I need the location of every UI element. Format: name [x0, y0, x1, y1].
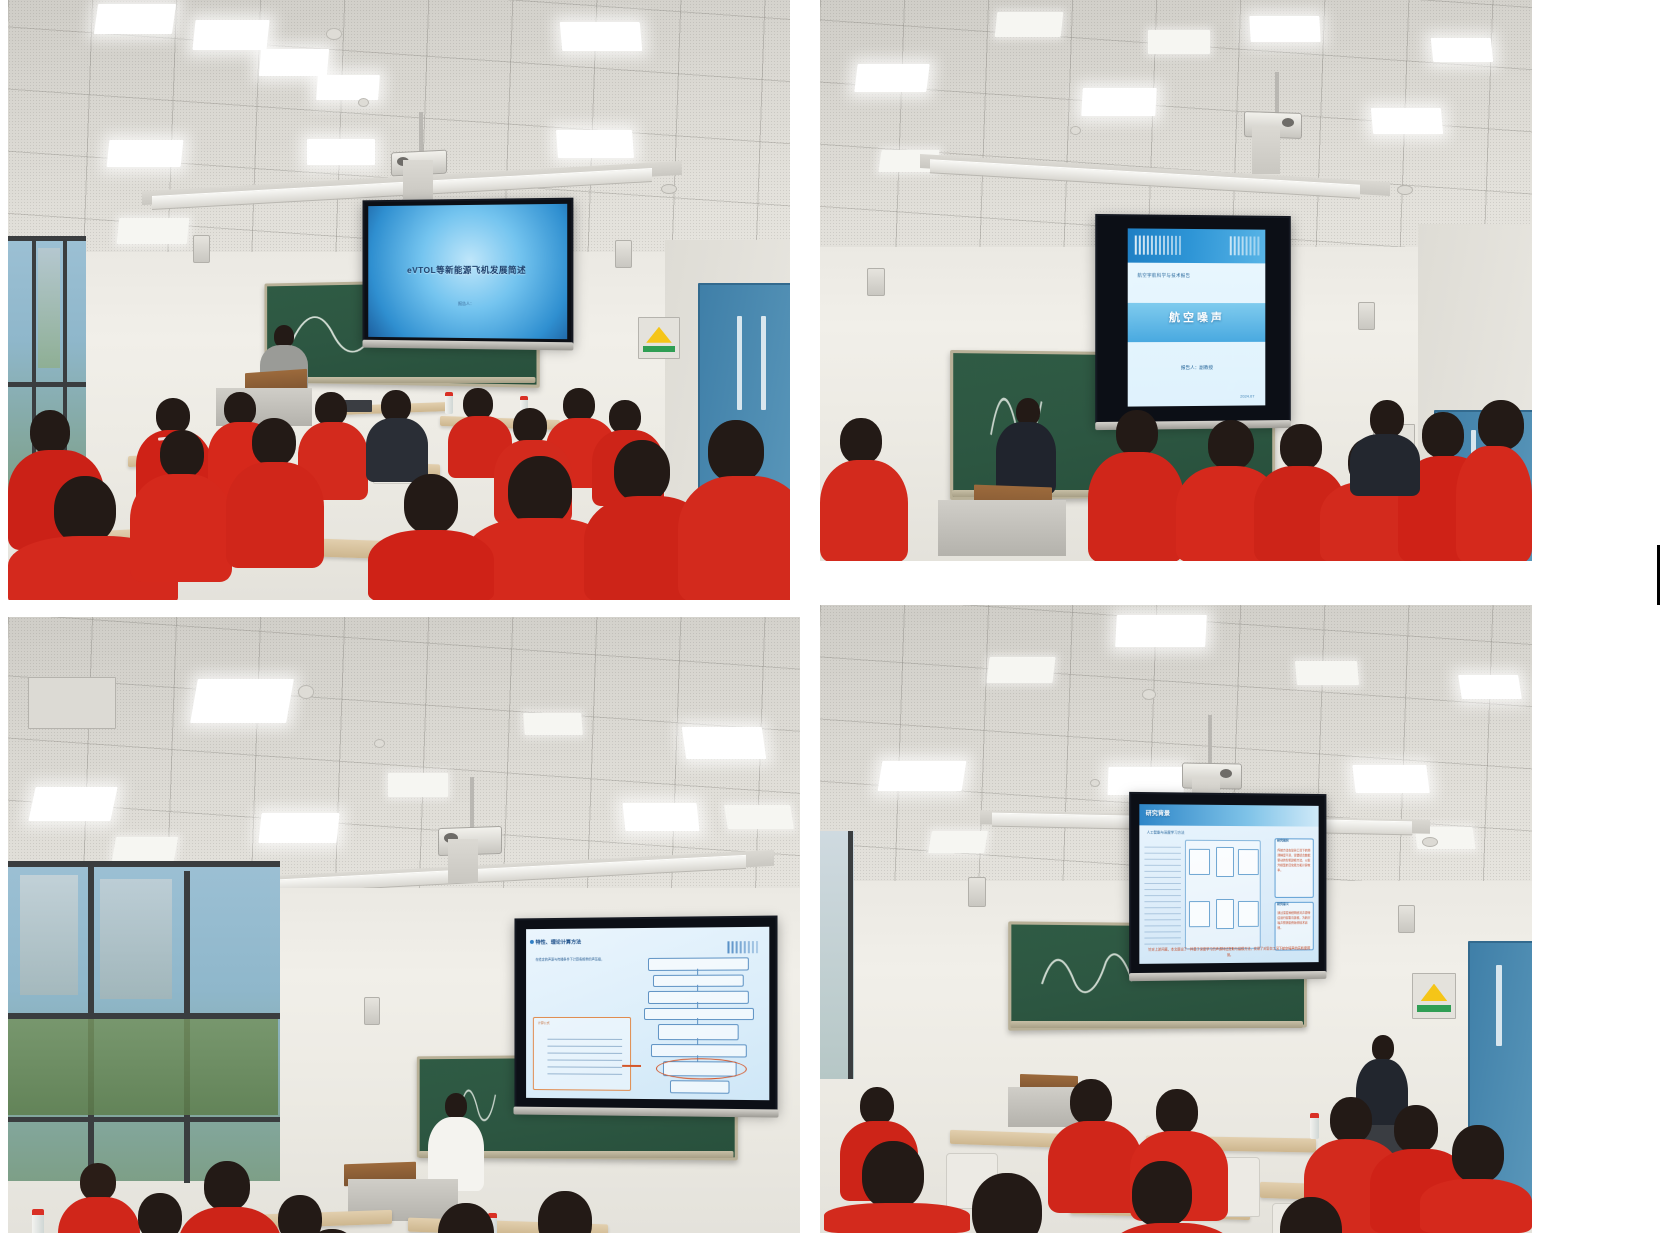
window-view-building	[100, 879, 172, 999]
flow-node	[644, 1008, 754, 1021]
wall-speaker	[1398, 905, 1415, 933]
window-mullion	[8, 861, 280, 867]
ceiling-lamp	[388, 773, 448, 797]
right-edge-mark	[1657, 545, 1660, 605]
ceiling-lamp	[107, 140, 184, 167]
slide-left-matrix	[1145, 842, 1181, 944]
projector-mount	[419, 112, 423, 154]
ceiling-lamp	[1352, 765, 1429, 793]
diagram-cell	[1238, 901, 1259, 927]
audience-head	[1208, 420, 1254, 470]
audience-head	[404, 474, 458, 534]
audience-torso	[678, 476, 790, 600]
projector-mount	[1208, 715, 1212, 765]
projector-lens	[1282, 118, 1294, 127]
slide-subtitle-text: 航空宇航科学与技术报告	[1137, 273, 1190, 279]
ceiling-lamp	[878, 761, 967, 791]
equation-box: 计算公式	[533, 1017, 631, 1091]
bottle-cap	[445, 392, 453, 396]
security-camera-icon	[1397, 185, 1413, 195]
ceiling-beam	[1252, 126, 1280, 174]
audience-head	[563, 388, 595, 422]
audience-head	[860, 1087, 894, 1125]
flow-node	[658, 1024, 739, 1040]
ceiling-lamp	[995, 12, 1064, 37]
presenter-head	[445, 1093, 467, 1119]
audience-head	[1280, 424, 1322, 470]
flow-connector	[697, 1002, 698, 1008]
flow-node	[670, 1080, 729, 1093]
diagram-cell	[1189, 849, 1210, 875]
window-view-building	[20, 875, 78, 995]
flow-node	[648, 991, 748, 1004]
equation-lines	[547, 1038, 622, 1075]
window-mullion	[848, 831, 853, 1079]
slide-title-text: 航空噪声	[1128, 309, 1266, 325]
university-logo-icon	[727, 941, 759, 953]
window-view-trees	[8, 1019, 278, 1115]
audience-torso	[1088, 452, 1184, 561]
window-view	[38, 248, 60, 368]
wall-speaker	[193, 235, 210, 263]
audience-torso	[1048, 1121, 1142, 1213]
door-vision-slit	[761, 316, 766, 410]
flow-node	[653, 974, 744, 987]
flow-connector	[697, 968, 698, 974]
bottle-cap	[1310, 1113, 1319, 1118]
ceiling-lamp	[623, 803, 700, 831]
audience-head	[1422, 412, 1464, 458]
panel-strip	[1417, 1005, 1451, 1012]
audience-head	[224, 392, 256, 426]
audience-head	[204, 1161, 250, 1211]
side-note-tag: 研究现状	[1277, 838, 1289, 842]
projector-mount	[1275, 72, 1279, 114]
side-note-box: 研究现状 传统方法在复杂工况下的预测精度不足，需要结合数据驱动的智能建模方法，以…	[1275, 838, 1314, 897]
audience-torso	[824, 1203, 970, 1233]
audience-head	[54, 476, 116, 544]
security-camera-icon	[661, 184, 677, 194]
warning-triangle-icon	[1421, 984, 1448, 1002]
ceiling-lamp	[986, 657, 1055, 683]
classroom-scene-1: eVTOL等新能源飞机发展简述 报告人：	[8, 0, 790, 600]
audience-torso	[1350, 434, 1420, 496]
audience-torso	[820, 460, 908, 561]
ceiling-lamp	[560, 22, 643, 51]
audience-torso	[130, 474, 232, 582]
ceiling-lamp	[117, 218, 190, 244]
smoke-detector-icon	[1090, 779, 1100, 787]
ceiling-lamp	[1115, 615, 1207, 647]
ceiling-lamp	[724, 805, 794, 829]
slide-side-notes: 研究现状 传统方法在复杂工况下的预测精度不足，需要结合数据驱动的智能建模方法，以…	[1275, 838, 1314, 948]
side-note-text: 通过深度神经网络对声源特征进行提取与建模，为航空噪声预测提供新的技术途径。	[1277, 910, 1310, 930]
side-note-tag: 研究意义	[1277, 902, 1289, 906]
slide-subtitle-text: 人工智能与深度学习方法	[1147, 830, 1185, 835]
ceiling-lamp	[259, 49, 329, 76]
slide-subtitle-line-1: 报告人：	[380, 300, 555, 308]
ceiling-lamp	[928, 831, 988, 853]
projection-screen-surface: eVTOL等新能源飞机发展简述 报告人：	[368, 204, 567, 339]
lectern-base	[938, 500, 1066, 556]
audience-head	[972, 1173, 1042, 1233]
ceiling-lamp	[1081, 88, 1156, 116]
slide-diagram	[1185, 840, 1261, 950]
audience-head	[1330, 1097, 1372, 1143]
smoke-detector-icon	[326, 28, 342, 40]
slide-content-4: 研究背景 人工智能与深度学习方法	[1139, 804, 1318, 964]
ceiling-lamp	[28, 787, 117, 821]
audience-torso	[368, 530, 494, 600]
ceiling-lamp	[1295, 661, 1359, 685]
audience-head	[1132, 1161, 1192, 1227]
ceiling-lamp	[190, 679, 294, 723]
projection-screen: 航空宇航科学与技术报告 航空噪声 报告人：副教授 2024.07	[1095, 214, 1291, 425]
fire-alarm-panel	[638, 317, 680, 359]
projection-screen: eVTOL等新能源飞机发展简述 报告人：	[362, 198, 573, 346]
ceiling-lamp	[1458, 675, 1522, 699]
ceiling-beam	[448, 839, 478, 883]
audience-torso	[226, 462, 324, 568]
school-logo-icon	[1230, 236, 1260, 256]
equation-box-label: 计算公式	[538, 1021, 550, 1025]
presenter-body	[996, 422, 1056, 494]
slide-title-text: 特性、理论计算方法	[536, 939, 582, 946]
audience-head	[30, 410, 70, 454]
audience-head	[1394, 1105, 1438, 1153]
projection-screen-surface: 研究背景 人工智能与深度学习方法	[1139, 804, 1318, 964]
audience-head	[138, 1193, 182, 1233]
audience-head	[252, 418, 296, 466]
audience-head	[513, 408, 547, 444]
slide-title-text: 研究背景	[1146, 808, 1170, 817]
flow-node	[651, 1044, 747, 1057]
ceiling-lamp	[854, 64, 929, 92]
wall-speaker	[615, 240, 632, 268]
audience-torso	[1456, 446, 1532, 561]
panel-top-left: eVTOL等新能源飞机发展简述 报告人：	[8, 0, 790, 600]
window-mullion	[8, 382, 86, 387]
bottle-cap	[32, 1209, 44, 1215]
panel-top-right: 航空宇航科学与技术报告 航空噪声 报告人：副教授 2024.07	[820, 0, 1532, 561]
ceiling-lamp	[682, 727, 766, 759]
audience-torso	[1420, 1179, 1532, 1233]
diagram-cell	[1216, 847, 1234, 877]
audience-head	[614, 440, 670, 502]
projection-screen-surface: 特性、理论计算方法 在给定的声源与传播条件下计算各频带的声压级， 计算公式	[526, 927, 769, 1100]
projection-screen: 特性、理论计算方法 在给定的声源与传播条件下计算各频带的声压级， 计算公式	[514, 916, 777, 1113]
audience-head	[1370, 400, 1404, 438]
water-bottle	[1310, 1113, 1319, 1139]
ceiling-lamp	[192, 20, 269, 50]
flowchart	[639, 941, 762, 1094]
panel-bottom-right: 研究背景 人工智能与深度学习方法	[820, 605, 1532, 1233]
ceiling-lamp	[1249, 16, 1320, 42]
ceiling-lamp	[258, 813, 339, 843]
ceiling-lamp	[1371, 108, 1443, 134]
slide-body-text: 在给定的声源与传播条件下计算各频带的声压级，	[536, 957, 632, 963]
side-note-text: 传统方法在复杂工况下的预测精度不足，需要结合数据驱动的智能建模方法，以提升模型的…	[1277, 849, 1310, 874]
ceiling-lamp	[556, 130, 634, 158]
slide-footer-text: 针对上述问题，本文提出了一种基于深度学习的声源特征提取与建模方法，实现了对复杂工…	[1147, 947, 1312, 959]
audience-head	[80, 1163, 116, 1201]
audience-head	[315, 392, 347, 426]
diagram-cell	[1238, 849, 1259, 875]
diagram-cell	[1189, 901, 1210, 927]
classroom-scene-4: 研究背景 人工智能与深度学习方法	[820, 605, 1532, 1233]
audience-head	[609, 400, 641, 434]
projector-lens	[1220, 769, 1232, 778]
water-bottle	[32, 1209, 44, 1233]
water-bottle	[445, 392, 453, 414]
audience-head	[1478, 400, 1524, 450]
window-mullion	[8, 236, 86, 241]
panel-bottom-left: 特性、理论计算方法 在给定的声源与传播条件下计算各频带的声压级， 计算公式	[8, 617, 800, 1233]
door-vision-slit	[737, 316, 742, 410]
presenter-head	[1372, 1035, 1394, 1061]
ceiling-lamp	[1431, 38, 1494, 62]
audience-head	[156, 398, 190, 434]
ceiling-lamp	[523, 713, 583, 735]
ceiling-beam	[403, 160, 433, 200]
warning-triangle-icon	[646, 327, 672, 343]
smoke-detector-icon	[1070, 126, 1081, 135]
ceiling-lamp	[1108, 767, 1185, 795]
panel-strip	[643, 346, 675, 352]
smoke-detector-icon	[298, 685, 314, 699]
projector-mount	[470, 777, 474, 829]
audience-head	[278, 1195, 322, 1233]
photo-collage: eVTOL等新能源飞机发展简述 报告人：	[0, 0, 1664, 1233]
slide-presenter-text: 报告人：副教授	[1128, 363, 1266, 372]
flow-node	[648, 958, 748, 971]
highlight-ellipse	[656, 1058, 747, 1080]
audience-head	[1452, 1125, 1504, 1183]
door-vision-slit	[1496, 965, 1502, 1046]
audience-head	[708, 420, 764, 482]
smoke-detector-icon	[1142, 689, 1156, 700]
smoke-detector-icon	[374, 739, 385, 748]
air-conditioner-unit	[28, 677, 116, 729]
bottle-cap	[520, 396, 528, 400]
ceiling-lamp	[1148, 30, 1210, 54]
window-mullion	[8, 1117, 280, 1122]
audience-head	[840, 418, 882, 464]
ceiling-lamp	[307, 139, 375, 165]
wall-speaker	[1358, 302, 1375, 330]
slide-title-text: eVTOL等新能源飞机发展简述	[380, 263, 555, 275]
smoke-detector-icon	[358, 98, 369, 107]
audience-head	[1116, 410, 1158, 456]
ceiling-lamp	[94, 4, 176, 34]
ceiling-lamp	[316, 75, 380, 100]
slide-content-3: 特性、理论计算方法 在给定的声源与传播条件下计算各频带的声压级， 计算公式	[526, 927, 769, 1100]
classroom-scene-2: 航空宇航科学与技术报告 航空噪声 报告人：副教授 2024.07	[820, 0, 1532, 561]
audience-head	[508, 456, 572, 526]
slide-title-1: eVTOL等新能源飞机发展简述 报告人：	[368, 204, 567, 339]
projection-screen-surface: 航空宇航科学与技术报告 航空噪声 报告人：副教授 2024.07	[1128, 228, 1266, 406]
audience-head	[160, 430, 204, 478]
chalk-tray	[1010, 1021, 1303, 1028]
audience-head	[862, 1141, 924, 1209]
projection-screen: 研究背景 人工智能与深度学习方法	[1129, 792, 1326, 976]
classroom-scene-3: 特性、理论计算方法 在给定的声源与传播条件下计算各频带的声压级， 计算公式	[8, 617, 800, 1233]
audience-head	[1156, 1089, 1198, 1135]
fire-alarm-panel	[1412, 973, 1456, 1019]
wall-speaker	[867, 268, 885, 296]
bullet-dot-icon	[530, 940, 534, 944]
slide-title-2: 航空宇航科学与技术报告 航空噪声 报告人：副教授 2024.07	[1128, 228, 1266, 406]
ceiling-lamp	[112, 837, 178, 861]
slide-date-text: 2024.07	[1240, 393, 1254, 398]
slide-header-band	[1128, 228, 1266, 263]
wall-speaker	[364, 997, 380, 1025]
audience-torso	[366, 418, 428, 482]
highlight-arrow	[622, 1065, 641, 1067]
university-logo-icon	[1135, 236, 1182, 255]
security-camera-icon	[1422, 837, 1438, 847]
diagram-cell	[1216, 899, 1234, 929]
side-note-box: 研究意义 通过深度神经网络对声源特征进行提取与建模，为航空噪声预测提供新的技术途…	[1275, 902, 1314, 950]
wall-speaker	[968, 877, 986, 907]
audience-head	[1070, 1079, 1112, 1125]
